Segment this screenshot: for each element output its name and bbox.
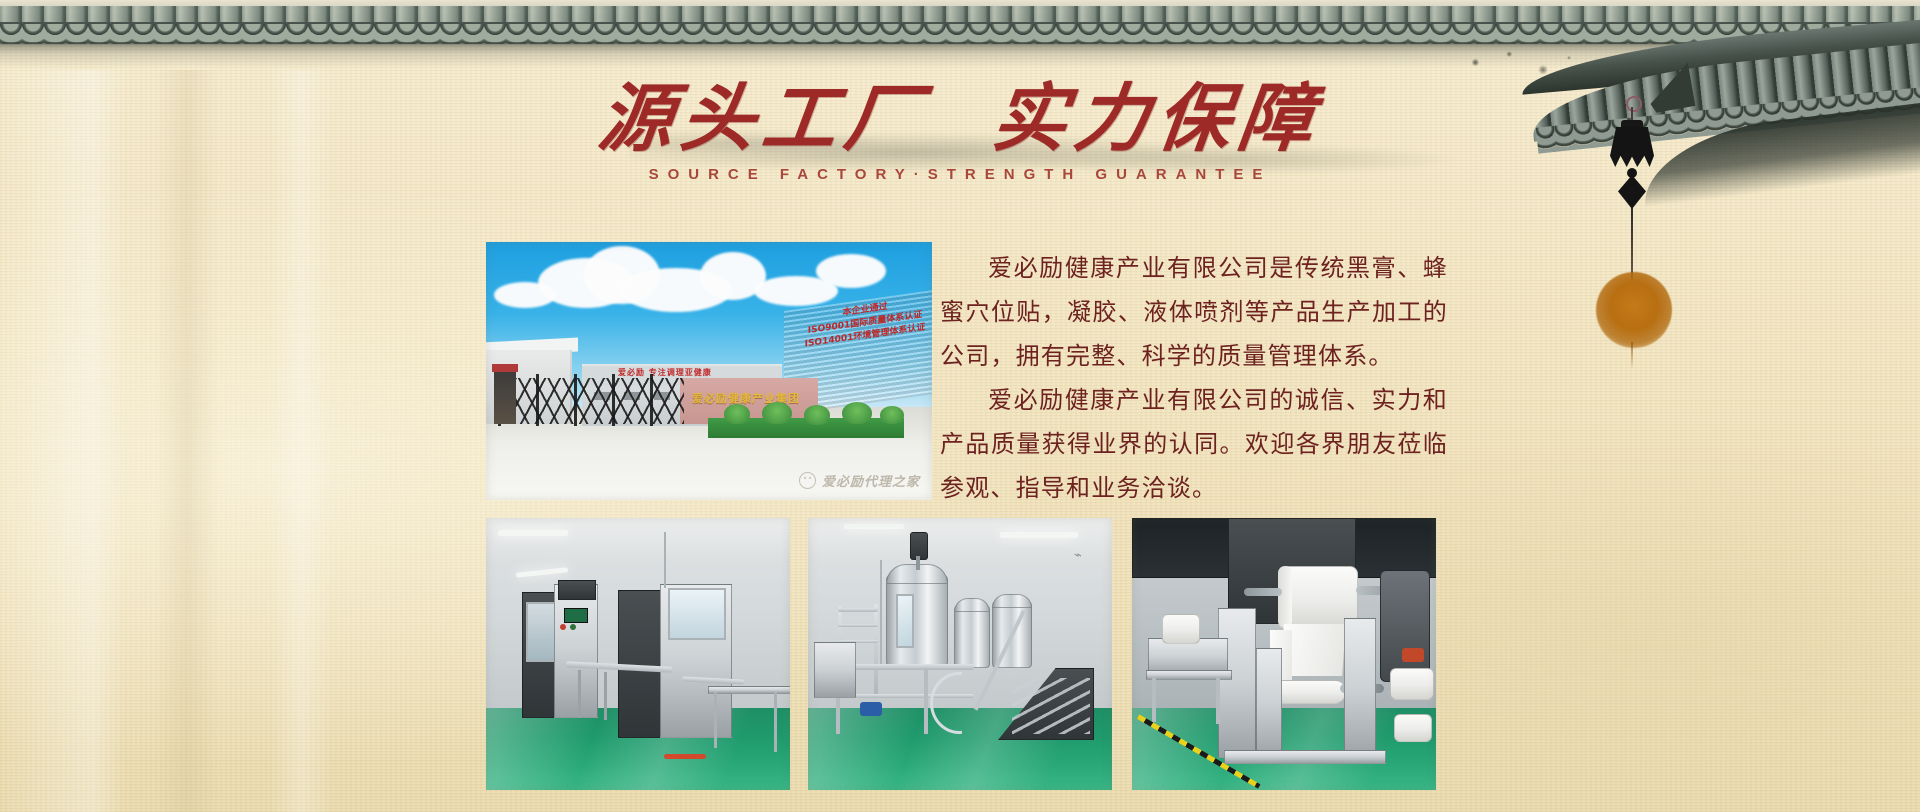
agitator-shaft <box>916 556 920 570</box>
table-leg <box>774 692 777 752</box>
work-table-top <box>708 686 790 694</box>
paper-roll-right <box>1390 668 1434 700</box>
pump-motor <box>860 702 882 716</box>
machine-frame-mid <box>1256 648 1282 760</box>
guard-booth-roof <box>492 364 518 372</box>
shrub-icon <box>762 402 792 424</box>
control-cabinet <box>814 642 856 698</box>
factory-gate-photo[interactable]: 本企业通过 ISO9001国际质量体系认证 ISO14001环境管理体系认证 爱… <box>486 242 932 500</box>
platform-handrail <box>838 624 878 627</box>
cloud-icon <box>816 254 886 288</box>
machine-upright-post <box>664 532 666 588</box>
platform-handrail <box>838 608 878 612</box>
start-button <box>570 624 576 630</box>
tank-lid <box>954 598 990 612</box>
paper-roll-right <box>1394 714 1432 742</box>
company-description: 爱必励健康产业有限公司是传统黑膏、蜂蜜穴位贴，凝胶、液体喷剂等产品生产加工的公司… <box>940 246 1448 510</box>
photo-watermark: 爱必励代理之家 <box>799 471 920 490</box>
conveyor-leg <box>604 672 607 720</box>
smiley-face-icon <box>799 472 816 489</box>
machine-control-screen <box>564 608 588 623</box>
description-paragraph-2: 爱必励健康产业有限公司的诚信、实力和产品质量获得业界的认同。欢迎各界朋友莅临参观… <box>940 378 1448 510</box>
unit-leg <box>1152 678 1156 722</box>
gate-posts <box>498 374 684 426</box>
roll-shaft <box>1244 588 1282 596</box>
tank-pipe <box>880 560 882 666</box>
paper-roll-small <box>1162 614 1200 644</box>
emergency-stop-button <box>560 624 566 630</box>
shrub-icon <box>804 405 830 425</box>
secondary-tank <box>954 604 990 668</box>
warning-marker <box>1402 648 1424 662</box>
unit-leg <box>1216 678 1220 724</box>
platform-leg <box>924 668 928 734</box>
platform-upright <box>874 604 878 696</box>
tank-sight-glass <box>896 594 914 648</box>
company-name-on-wall: 爱必励健康产业集团 <box>692 390 816 406</box>
machine-viewing-window <box>526 602 556 662</box>
wall-marking: ⌁ <box>1074 548 1098 566</box>
cleanroom-ceiling <box>486 518 790 562</box>
air-hose <box>664 754 706 759</box>
coating-laminating-machine-photo[interactable] <box>1132 518 1436 790</box>
roll-end-face <box>1278 566 1292 628</box>
ceiling-light-icon <box>844 524 904 529</box>
cleanroom-filling-line-photo[interactable] <box>486 518 790 790</box>
guard-booth <box>494 368 516 424</box>
shrub-icon <box>842 402 872 424</box>
filling-machine-body <box>554 584 598 718</box>
stair-treads <box>1012 678 1090 734</box>
machine-top-housing <box>558 580 596 600</box>
machine-frame-left <box>1218 608 1256 758</box>
conveyor-leg <box>578 670 581 718</box>
machine-frame-right <box>1344 618 1376 762</box>
watermark-text: 爱必励代理之家 <box>822 471 920 490</box>
machine-door-window <box>668 588 726 640</box>
tank-lid <box>992 594 1032 608</box>
shrub-icon <box>724 404 750 424</box>
dryer-drum <box>1380 570 1430 682</box>
ceiling-light-icon <box>1000 532 1078 538</box>
shrub-icon <box>880 406 904 424</box>
machine-base-beam <box>1224 750 1386 764</box>
emulsifying-tanks-photo[interactable]: ⌁ <box>808 518 1112 790</box>
description-paragraph-1: 爱必励健康产业有限公司是传统黑膏、蜂蜜穴位贴，凝胶、液体喷剂等产品生产加工的公司… <box>940 246 1448 378</box>
factory-strength-banner: 源头工厂 实力保障 SOURCE FACTORY·STRENGTH GUARAN… <box>0 0 1920 812</box>
ceiling-light-icon <box>498 530 568 536</box>
content-area: 本企业通过 ISO9001国际质量体系认证 ISO14001环境管理体系认证 爱… <box>0 0 1920 812</box>
cloud-icon <box>494 282 556 308</box>
table-leg <box>714 692 717 748</box>
